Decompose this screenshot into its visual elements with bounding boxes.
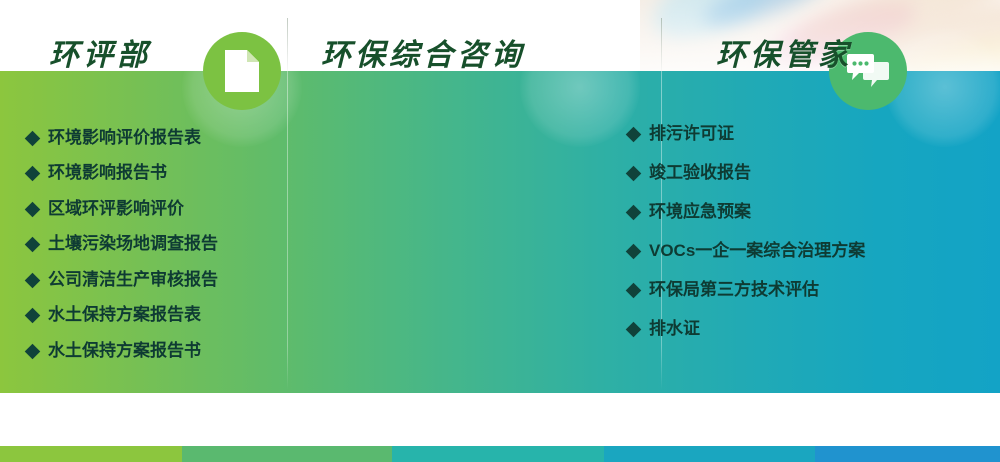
diamond-bullet-icon [25, 202, 41, 218]
list-item[interactable]: 排污许可证 [628, 123, 948, 146]
diamond-bullet-icon [626, 166, 642, 182]
footer-tick-5 [815, 446, 1000, 462]
list-item[interactable]: 环境影响评价报告表 [27, 127, 277, 150]
service-list-2: 排污许可证 竣工验收报告 环境应急预案 VOCs一企一案综合治理方案 环保局第三… [628, 123, 948, 357]
list-item[interactable]: 区域环评影响评价 [27, 198, 277, 221]
diamond-bullet-icon [626, 282, 642, 298]
list-item[interactable]: 环境影响报告书 [27, 162, 277, 185]
footer-tick-1 [0, 446, 182, 462]
column-1-title: 环评部 [49, 30, 151, 74]
diamond-bullet-icon [25, 131, 41, 147]
column-2-title: 环保综合咨询 [321, 30, 525, 74]
list-item[interactable]: 竣工验收报告 [628, 162, 948, 185]
list-item[interactable]: 公司清洁生产审核报告 [27, 269, 277, 292]
diamond-bullet-icon [25, 237, 41, 253]
list-item[interactable]: 土壤污染场地调查报告 [27, 233, 277, 256]
icon-halo-2 [520, 27, 640, 147]
diamond-bullet-icon [626, 127, 642, 143]
column-3-title: 环保管家 [716, 30, 852, 74]
diamond-bullet-icon [626, 244, 642, 260]
diamond-bullet-icon [25, 166, 41, 182]
list-item[interactable]: 水土保持方案报告表 [27, 304, 277, 327]
bottom-white-band [0, 393, 1000, 446]
diamond-bullet-icon [25, 272, 41, 288]
diamond-bullet-icon [626, 321, 642, 337]
diamond-bullet-icon [25, 308, 41, 324]
footer-tick-2 [182, 446, 392, 462]
list-item[interactable]: 水土保持方案报告书 [27, 340, 277, 363]
list-item[interactable]: 环保局第三方技术评估 [628, 279, 948, 302]
document-icon [203, 32, 281, 110]
poster-root: 环评部 环境影响评价报告表 环境影响报告书 区域环评影响评价 土壤污 [0, 0, 1000, 462]
list-item[interactable]: 排水证 [628, 318, 948, 341]
footer-tick-3 [392, 446, 604, 462]
footer-tick-4 [604, 446, 815, 462]
diamond-bullet-icon [25, 343, 41, 359]
diamond-bullet-icon [626, 205, 642, 221]
list-item[interactable]: VOCs一企一案综合治理方案 [628, 240, 948, 263]
column-divider-1 [287, 18, 288, 390]
service-list-1: 环境影响评价报告表 环境影响报告书 区域环评影响评价 土壤污染场地调查报告 公司… [27, 127, 277, 375]
footer-color-bar [0, 446, 1000, 462]
list-item[interactable]: 环境应急预案 [628, 201, 948, 224]
